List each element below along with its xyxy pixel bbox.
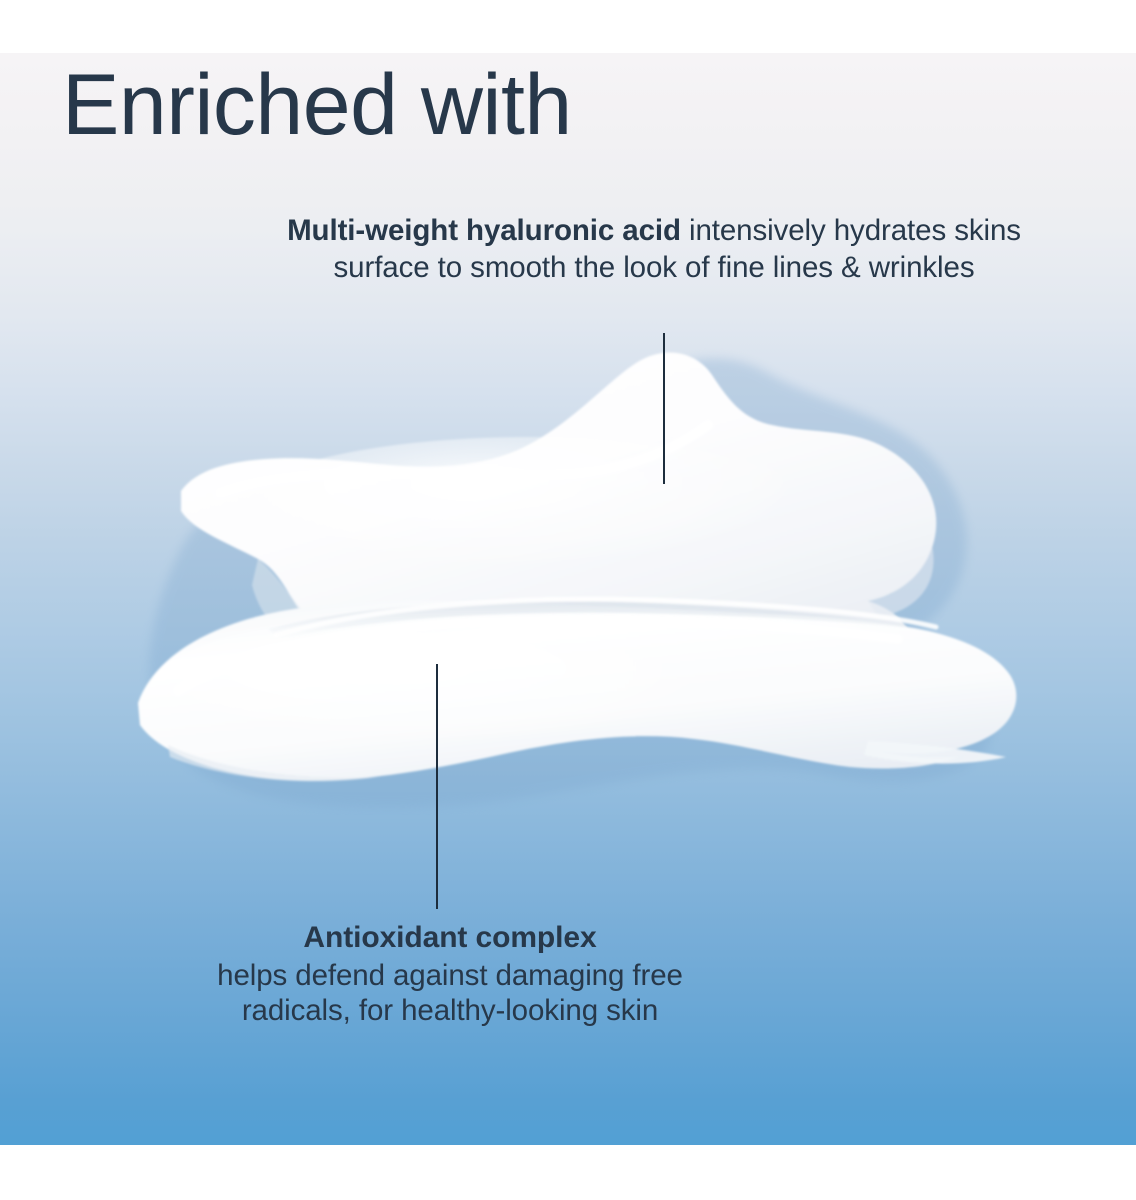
callout-hyaluronic-acid-lead: Multi-weight hyaluronic acid <box>287 214 681 247</box>
bottom-white-margin <box>0 1145 1136 1200</box>
leader-line-hyaluronic-acid <box>663 333 665 484</box>
callout-antioxidant-complex-body: helps defend against damaging free radic… <box>217 959 683 1027</box>
leader-line-antioxidant-complex <box>436 664 438 909</box>
callout-hyaluronic-acid: Multi-weight hyaluronic acid intensively… <box>268 212 1040 286</box>
callout-antioxidant-complex: Antioxidant complexhelps defend against … <box>200 918 700 1028</box>
top-white-margin <box>0 0 1136 53</box>
product-infographic: Enriched with Multi-weight hyaluronic ac… <box>0 0 1136 1200</box>
page-title: Enriched with <box>62 62 572 148</box>
callout-antioxidant-complex-lead: Antioxidant complex <box>200 918 700 958</box>
